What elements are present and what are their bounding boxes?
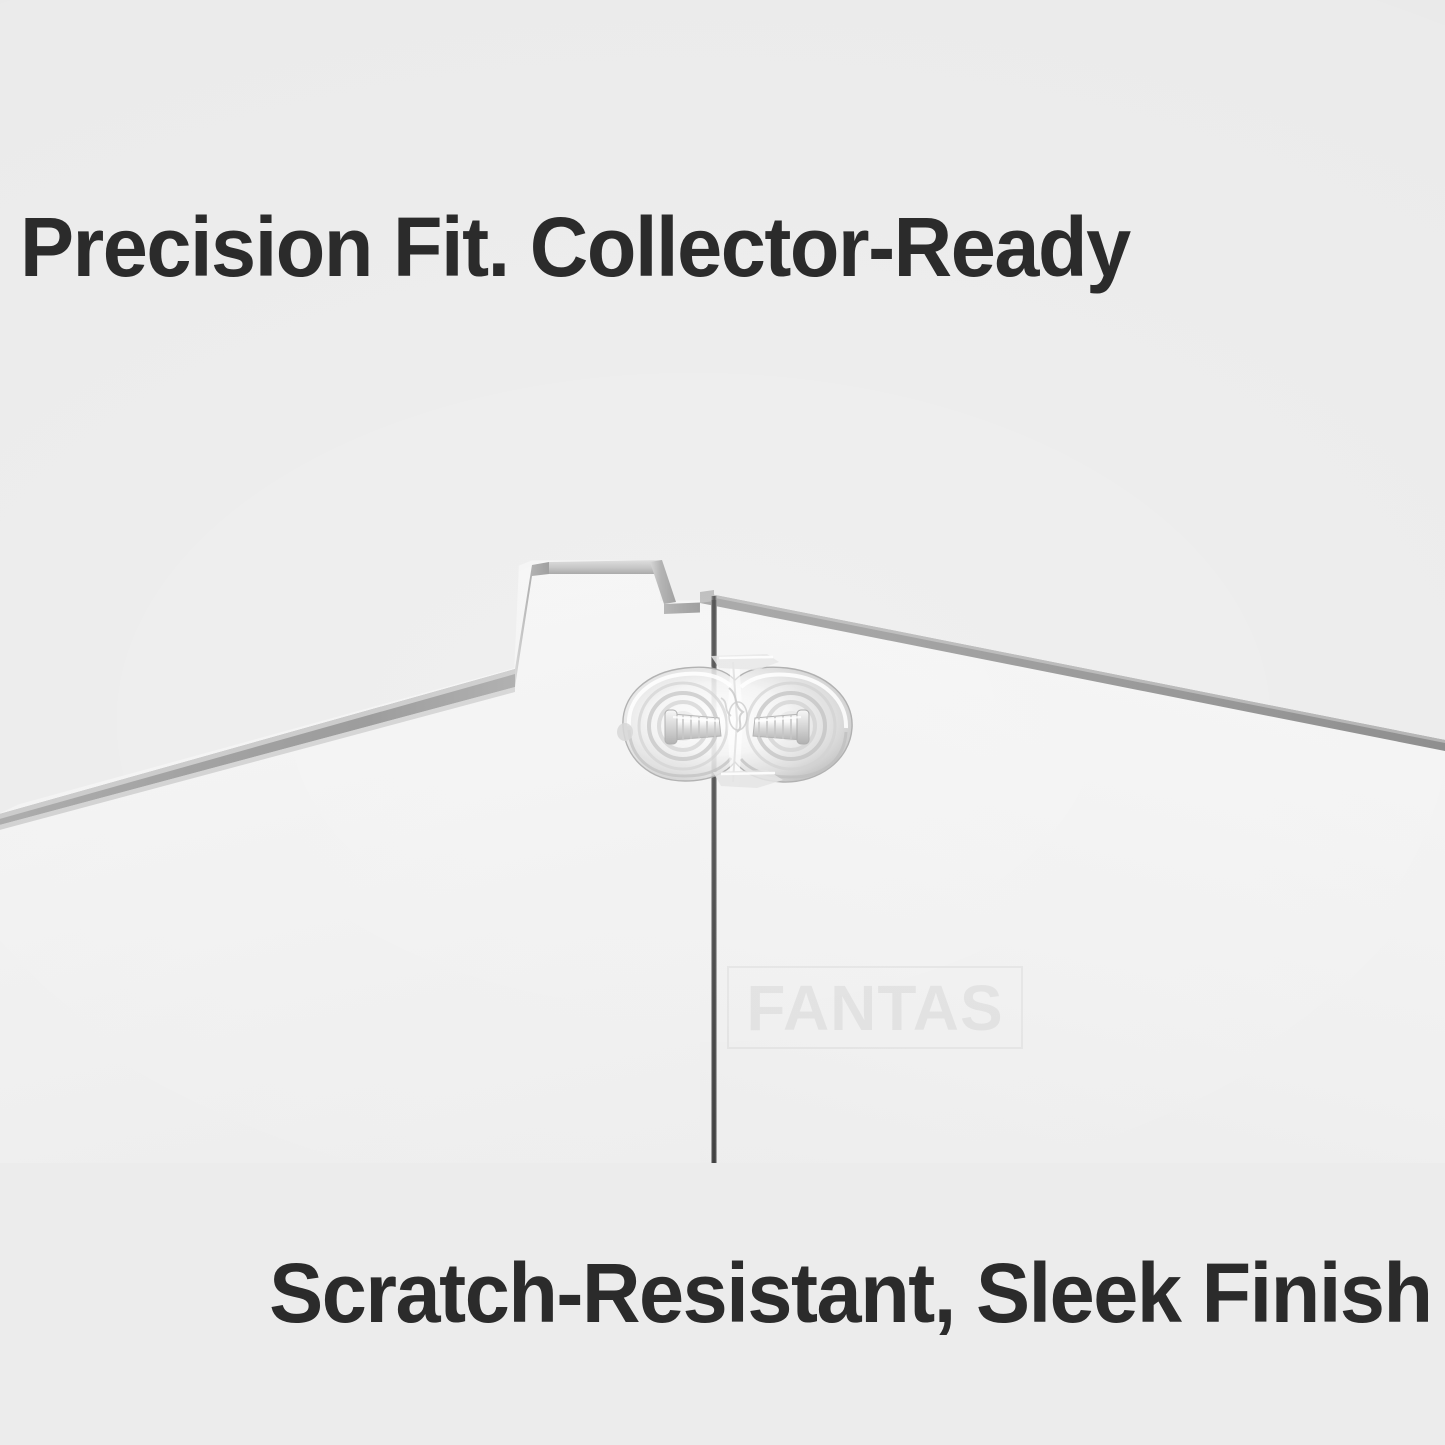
headline-bottom: Scratch-Resistant, Sleek Finish [270, 1251, 1432, 1335]
product-photo: FANTAS [0, 0, 1445, 1163]
panel-seam [711, 600, 717, 1163]
product-feature-image: FANTAS Precision Fit. Collector-Ready Sc… [0, 0, 1445, 1445]
watermark-badge: FANTAS [727, 966, 1023, 1049]
acrylic-panel-left [0, 540, 756, 1163]
acrylic-panel-right [700, 586, 1445, 1163]
headline-top: Precision Fit. Collector-Ready [20, 205, 1130, 289]
watermark-text: FANTAS [746, 976, 1003, 1040]
